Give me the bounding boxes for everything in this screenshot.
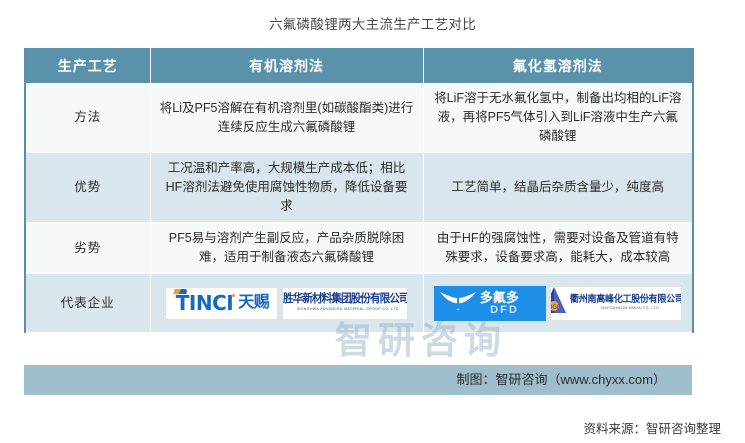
source-note: 资料来源：智研咨询整理 [583, 418, 721, 437]
comparison-table-container: 生产工艺 有机溶剂法 氟化氢溶剂法 方法 将Li及PF5溶解在有机溶剂里(如碳酸… [24, 48, 692, 333]
table-header: 生产工艺 有机溶剂法 氟化氢溶剂法 [25, 48, 693, 83]
credit-bar: 制图：智研咨询（www.chyxx.com） [24, 365, 692, 395]
cell-advantage-hf: 工艺简单，结晶后杂质含量少，纯度高 [423, 153, 693, 223]
table-row-method: 方法 将Li及PF5溶解在有机溶剂里(如碳酸酯类)进行连续反应生成六氟磷酸锂 将… [25, 83, 693, 153]
cell-method-organic: 将Li及PF5溶解在有机溶剂里(如碳酸酯类)进行连续反应生成六氟磷酸锂 [150, 83, 423, 153]
nangaofeng-triangle-icon: NGF [550, 286, 568, 320]
page-title: 六氟磷酸锂两大主流生产工艺对比 [0, 13, 745, 33]
table-row-advantage: 优势 工况温和产率高，大规模生产成本低；相比HF溶剂法避免使用腐蚀性物质，降低设… [25, 153, 693, 223]
cell-disadvantage-hf: 由于HF的强腐蚀性，需要对设备及管道有特殊要求，设备要求高，能耗大，成本较高 [423, 223, 693, 274]
cell-disadvantage-organic: PF5易与溶剂产生副反应，产品杂质脱除困难，适用于制备液态六氟磷酸锂 [150, 223, 423, 274]
column-header-hf-solvent: 氟化氢溶剂法 [423, 48, 693, 83]
table-header-row: 生产工艺 有机溶剂法 氟化氢溶剂法 [25, 48, 693, 83]
nangaofeng-text: 衢州南高峰化工股份有限公司 NGFC&#8226;BMDA.CO.,LTD [570, 295, 681, 311]
cell-companies-organic: TINCI天赐 胜华新材料集团股份有限公司 SHINGHWA ADVANCED … [150, 274, 423, 333]
column-header-organic-solvent: 有机溶剂法 [150, 48, 423, 83]
table-body: 方法 将Li及PF5溶解在有机溶剂里(如碳酸酯类)进行连续反应生成六氟磷酸锂 将… [25, 83, 693, 333]
organic-logo-group: TINCI天赐 胜华新材料集团股份有限公司 SHINGHWA ADVANCED … [157, 287, 417, 320]
dfd-bird-icon [438, 287, 478, 319]
svg-text:NGF: NGF [550, 304, 562, 311]
dfd-latin-name: DFD [480, 305, 519, 316]
tinci-logo: TINCI天赐 [165, 287, 278, 320]
shinghwa-chinese-name: 胜华新材料集团股份有限公司 [283, 294, 408, 306]
nangaofeng-chinese-name: 衢州南高峰化工股份有限公司 [570, 295, 681, 305]
shinghwa-logo: 胜华新材料集团股份有限公司 SHINGHWA ADVANCED MATERIAL… [282, 287, 408, 320]
tinci-swoosh-icon [173, 289, 188, 294]
column-header-process: 生产工艺 [25, 48, 150, 83]
tinci-dot-icon [232, 294, 235, 297]
dfd-chinese-name: 多氟多 [480, 291, 519, 304]
credit-text: 制图：智研咨询（www.chyxx.com） [457, 365, 666, 395]
dfd-logo: 多氟多 DFD [434, 286, 546, 321]
shinghwa-latin-name: SHINGHWA ADVANCED MATERIAL GROUP CO.,LTD [283, 308, 408, 312]
row-label-method: 方法 [25, 83, 150, 153]
row-label-advantage: 优势 [25, 153, 150, 223]
nangaofeng-logo: NGF 衢州南高峰化工股份有限公司 NGFC&#8226;BMDA.CO.,LT… [550, 286, 682, 321]
tinci-wordmark: TINCI [174, 288, 233, 318]
cell-method-hf: 将LiF溶于无水氟化氢中，制备出均相的LiF溶液，再将PF5气体引入到LiF溶液… [423, 83, 693, 153]
shinghwa-text: 胜华新材料集团股份有限公司 SHINGHWA ADVANCED MATERIAL… [283, 294, 408, 311]
row-label-disadvantage: 劣势 [25, 223, 150, 274]
dfd-text: 多氟多 DFD [480, 291, 519, 316]
table-row-disadvantage: 劣势 PF5易与溶剂产生副反应，产品杂质脱除困难，适用于制备液态六氟磷酸锂 由于… [25, 223, 693, 274]
table-row-companies: 代表企业 TINCI天赐 胜华新材料集团股份有限公司 SHINGHWA ADVA… [25, 274, 693, 333]
comparison-table: 生产工艺 有机溶剂法 氟化氢溶剂法 方法 将Li及PF5溶解在有机溶剂里(如碳酸… [24, 48, 694, 333]
cell-companies-hf: 多氟多 DFD NGF [423, 274, 693, 333]
hf-logo-group: 多氟多 DFD NGF [430, 286, 687, 321]
tinci-chinese-name: 天赐 [238, 291, 269, 315]
nangaofeng-latin-name: NGFC&#8226;BMDA.CO.,LTD [570, 307, 681, 311]
cell-advantage-organic: 工况温和产率高，大规模生产成本低；相比HF溶剂法避免使用腐蚀性物质，降低设备要求 [150, 153, 423, 223]
row-label-companies: 代表企业 [25, 274, 150, 333]
chart-page: 六氟磷酸锂两大主流生产工艺对比 生产工艺 有机溶剂法 氟化氢溶剂法 方法 将Li… [0, 0, 745, 443]
